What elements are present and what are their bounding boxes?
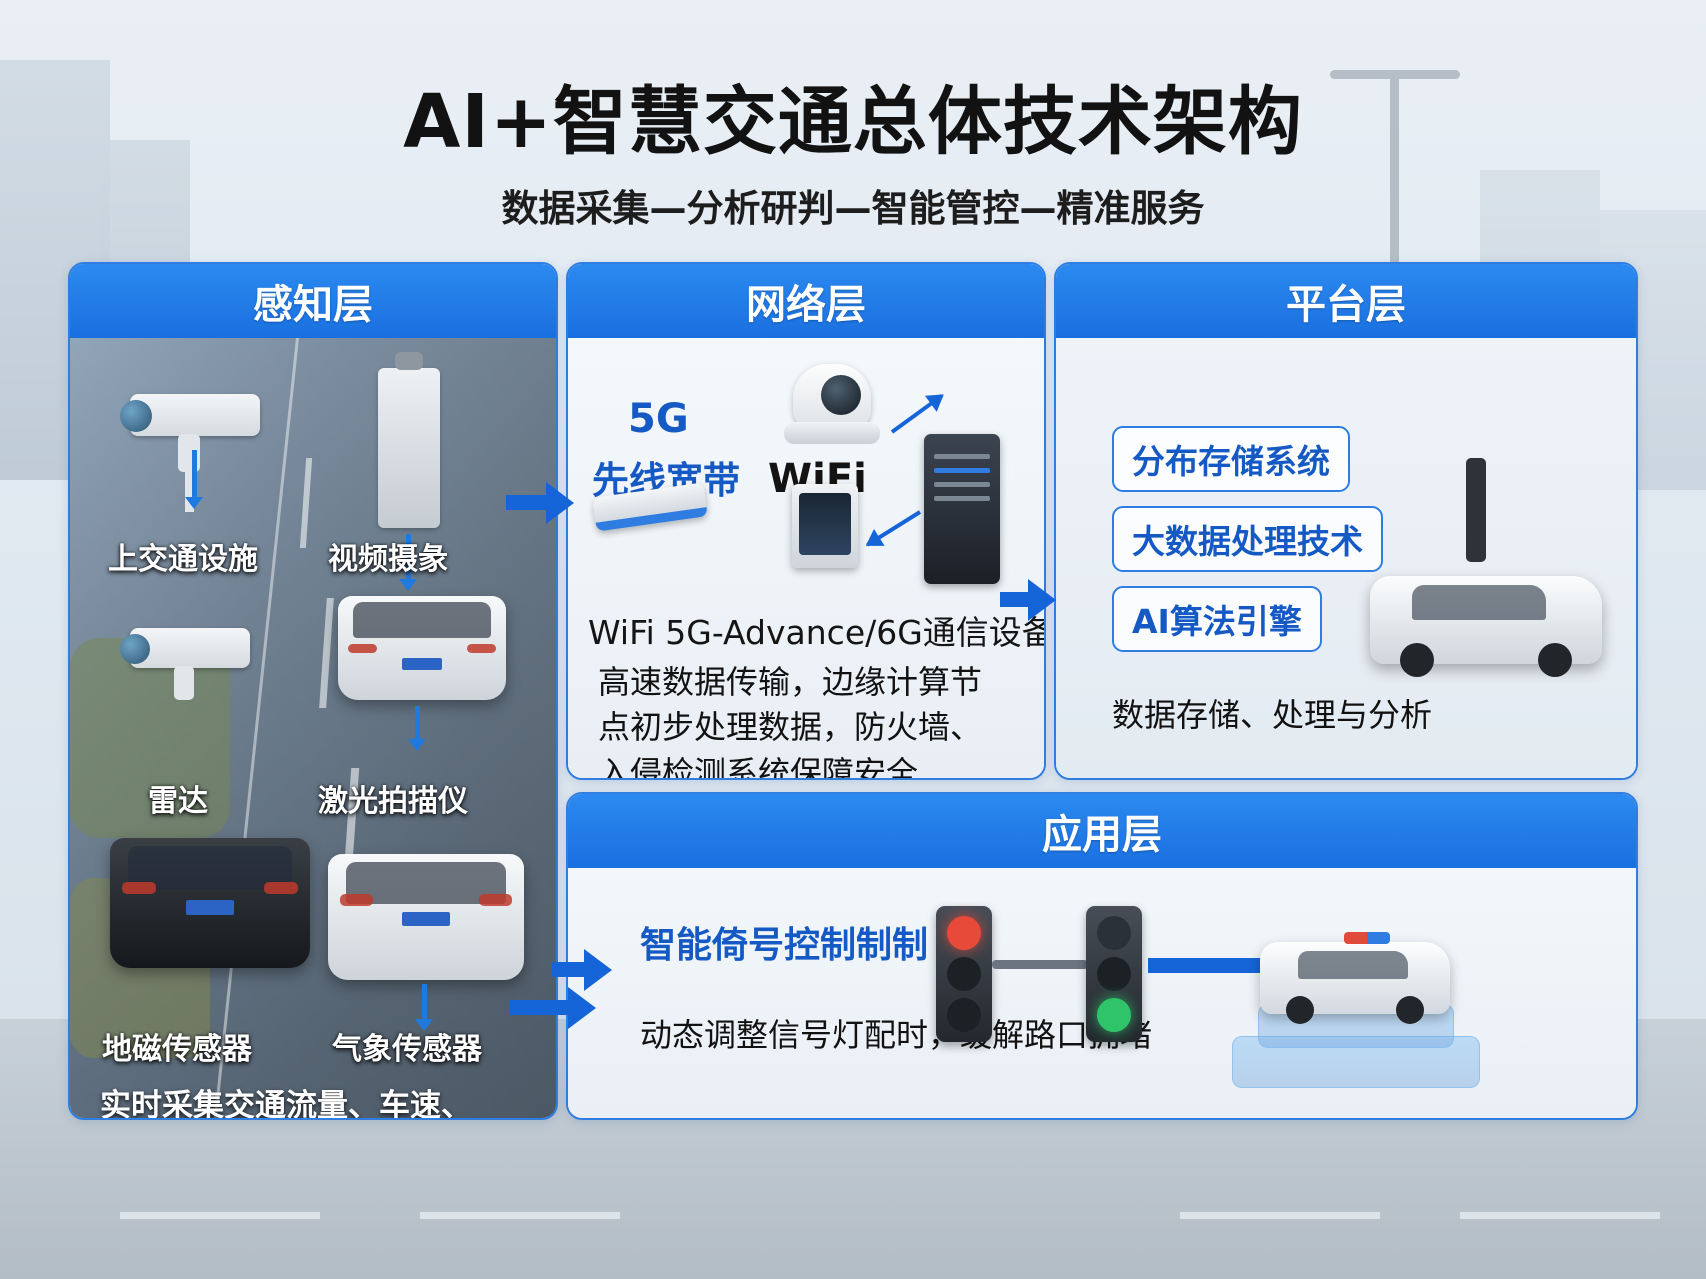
panel-network-title: 网络层 (568, 264, 1044, 338)
taillight (467, 644, 496, 653)
lane-marking (120, 1212, 320, 1219)
traffic-light-green-icon (1086, 906, 1142, 1042)
network-description-line-1: 高速数据传输，边缘计算节 (598, 660, 1028, 705)
panel-platform-body: 分布存储系统 大数据处理技术 AI算法引擎 数据存储、处理与分析 (1056, 338, 1636, 778)
sensing-description: 实时采集交通流量、车速、 路况、天气数据 (100, 1086, 472, 1120)
arrow-sensing-to-network (506, 495, 548, 510)
label-traffic-facility: 上交通设施 (108, 534, 258, 578)
taillight (264, 882, 298, 894)
server-slot (934, 468, 990, 473)
sensing-description-line-1: 实时采集交通流量、车速、 (100, 1086, 472, 1120)
signal-green-lamp (947, 998, 981, 1032)
tag-bigdata-processing[interactable]: 大数据处理技术 (1112, 506, 1383, 572)
page-title: AI+智慧交通总体技术架构 (0, 62, 1706, 169)
application-description: 动态调整信号灯配时，缓解路口拥堵 (640, 1010, 1152, 1056)
panel-platform-layer[interactable]: 平台层 分布存储系统 大数据处理技术 AI算法引擎 数据存储、处理与分析 (1054, 262, 1638, 780)
police-car-window (1298, 951, 1408, 980)
panel-network-layer[interactable]: 网络层 5G 先线宽带 WiFi WiFi 5G-Advance/6G通信设备 … (566, 262, 1046, 780)
tag-ai-algorithm-engine[interactable]: AI算法引擎 (1112, 586, 1322, 652)
tag-distributed-storage[interactable]: 分布存储系统 (1112, 426, 1350, 492)
label-laser-scanner: 激光拍描仪 (318, 776, 468, 820)
road-stripe (300, 458, 312, 548)
radar-lens-icon (120, 634, 150, 664)
server-slot (934, 496, 990, 501)
taillight (122, 882, 156, 894)
car-window (353, 602, 491, 637)
network-description-line-3: 入侵检测系统保障安全 (598, 751, 1028, 780)
lane-marking (1460, 1212, 1660, 1219)
server-slot (934, 482, 990, 487)
label-video-camera: 视频摄彖 (328, 534, 448, 578)
gantry-top (395, 352, 423, 370)
wifi-camera-icon (784, 364, 880, 448)
police-lightbar-icon (1344, 932, 1390, 944)
signal-red-lamp-off (1097, 916, 1131, 950)
taillight (348, 644, 377, 653)
panel-sensing-body: 上交通设施 视频摄彖 雷达 激光拍描仪 (70, 338, 556, 1118)
road-stripe (319, 598, 334, 708)
suv-wheel (1400, 643, 1434, 677)
pointer-line (192, 450, 197, 498)
vehicle-white-bottom (328, 854, 524, 980)
sensing-photo (70, 338, 556, 1118)
vehicle-police-car (1260, 942, 1450, 1014)
label-smart-signal-control: 智能倚号控制制制 (640, 916, 928, 968)
label-5g: 5G (628, 396, 689, 442)
panel-network-body: 5G 先线宽带 WiFi WiFi 5G-Advance/6G通信设备 高速数据… (568, 338, 1044, 778)
police-car-wheel (1286, 996, 1314, 1024)
camera-base (784, 422, 880, 444)
license-plate (186, 900, 234, 914)
camera-eye-icon (821, 375, 861, 415)
network-description: 高速数据传输，边缘计算节 点初步处理数据，防火墙、 入侵检测系统保障安全 (598, 660, 1028, 780)
signal-amber-lamp (947, 957, 981, 991)
lane-marking (1180, 1212, 1380, 1219)
camera-lens-icon (120, 400, 152, 432)
roadside-unit-icon (792, 484, 858, 568)
server-slot (934, 454, 990, 459)
traffic-light-red-icon (936, 906, 992, 1042)
license-plate (402, 658, 442, 669)
video-camera-unit-icon (378, 368, 440, 528)
vehicle-white-top (338, 596, 506, 700)
panel-application-layer[interactable]: 应用层 智能倚号控制制制 动态调整信号灯配时，缓解路口拥堵 (566, 792, 1638, 1120)
label-geomagnetic-sensor: 地磁传感器 (102, 1024, 252, 1068)
signal-amber-lamp (1097, 957, 1131, 991)
suv-wheel (1538, 643, 1572, 677)
roadside-traffic-light-icon (1466, 458, 1486, 562)
license-plate (402, 912, 449, 926)
signal-red-lamp (947, 916, 981, 950)
arrow-sensing-to-application-1 (552, 962, 586, 977)
rsu-screen (799, 493, 851, 555)
arrow-network-to-platform (1000, 592, 1030, 607)
label-radar: 雷达 (148, 776, 208, 820)
label-weather-sensor: 气象传感器 (332, 1024, 482, 1068)
vehicle-suv (1370, 576, 1602, 664)
pointer-line (415, 706, 420, 740)
server-cabinet-icon (924, 434, 1000, 584)
panel-sensing-layer[interactable]: 感知层 上交通设施 视频摄彖 (68, 262, 558, 1120)
taillight (340, 894, 373, 905)
panel-sensing-title: 感知层 (70, 264, 556, 338)
vehicle-dark (110, 838, 310, 968)
taillight (479, 894, 512, 905)
page-subtitle: 数据采集—分析研判—智能管控—精准服务 (0, 178, 1706, 232)
arrow-sensing-to-application-2 (510, 1000, 570, 1015)
signal-green-lamp-on (1097, 998, 1131, 1032)
radar-mount (174, 666, 194, 700)
panel-application-body: 智能倚号控制制制 动态调整信号灯配时，缓解路口拥堵 (568, 868, 1636, 1118)
pointer-line (422, 984, 427, 1020)
panel-application-title: 应用层 (568, 794, 1636, 868)
network-description-line-2: 点初步处理数据，防火墙、 (598, 705, 1028, 750)
network-caption: WiFi 5G-Advance/6G通信设备 (588, 606, 1046, 654)
police-car-wheel (1396, 996, 1424, 1024)
camera-head (793, 364, 871, 428)
suv-window (1412, 585, 1547, 620)
signal-connector-bar (992, 960, 1088, 969)
platform-description: 数据存储、处理与分析 (1112, 690, 1432, 736)
lane-marking (420, 1212, 620, 1219)
panel-platform-title: 平台层 (1056, 264, 1636, 338)
